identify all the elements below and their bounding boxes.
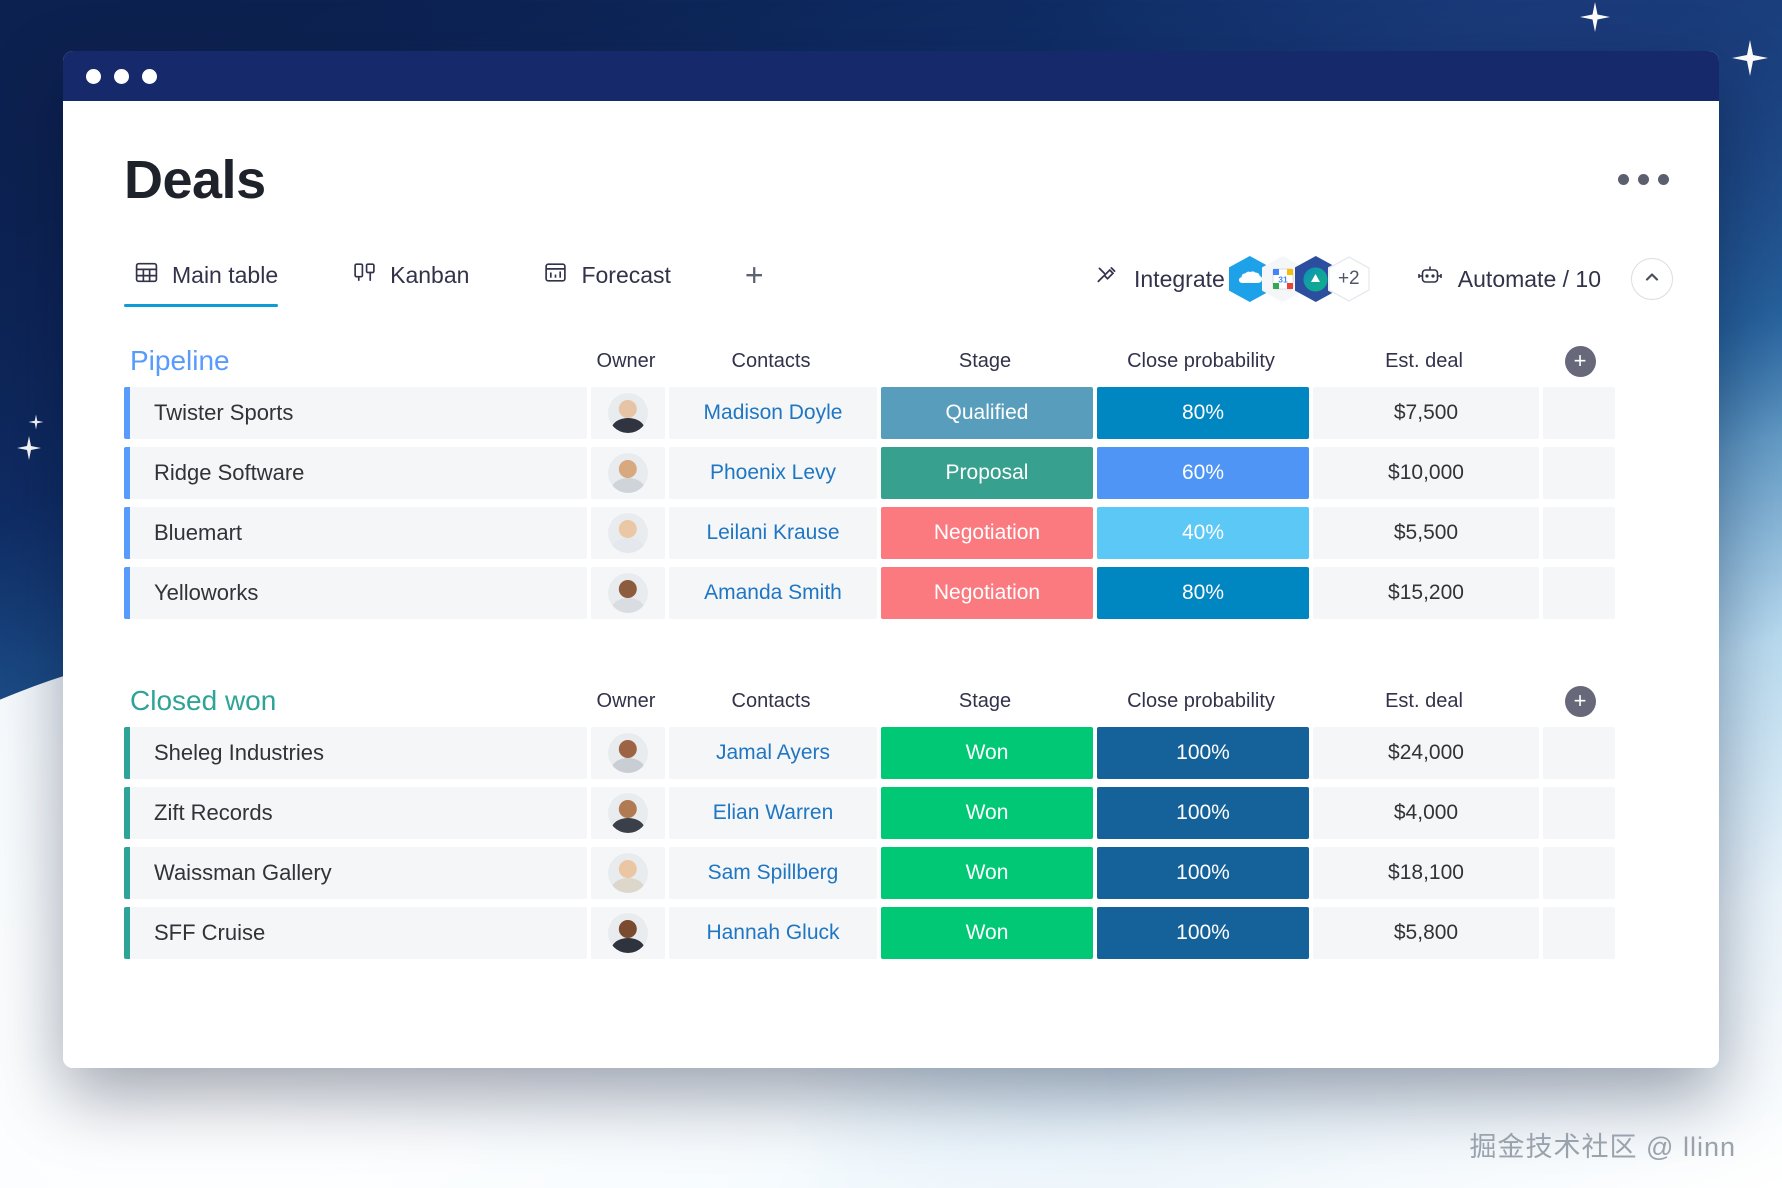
contact-cell[interactable]: Leilani Krause xyxy=(669,507,877,559)
deal-name-cell[interactable]: Sheleg Industries xyxy=(124,727,587,779)
est-deal-cell[interactable]: $4,000 xyxy=(1313,787,1539,839)
owner-cell[interactable] xyxy=(591,727,665,779)
empty-cell[interactable] xyxy=(1543,727,1615,779)
avatar[interactable] xyxy=(608,913,648,953)
board-group: PipelineOwnerContactsStageClose probabil… xyxy=(63,337,1719,621)
tab-forecast[interactable]: Forecast xyxy=(533,256,696,307)
avatar[interactable] xyxy=(608,453,648,493)
kebab-dot xyxy=(1618,174,1629,185)
collapse-toolbar-button[interactable] xyxy=(1631,258,1673,300)
deal-name-cell[interactable]: Ridge Software xyxy=(124,447,587,499)
add-view-button[interactable]: + xyxy=(735,262,774,302)
automate-label: Automate / 10 xyxy=(1458,266,1601,293)
table-row[interactable]: SFF CruiseHannah GluckWon100%$5,800 xyxy=(63,905,1719,961)
table-row[interactable]: Sheleg IndustriesJamal AyersWon100%$24,0… xyxy=(63,725,1719,781)
column-header-est-deal[interactable]: Est. deal xyxy=(1309,690,1539,713)
stage-cell[interactable]: Won xyxy=(881,787,1093,839)
close-probability-cell[interactable]: 80% xyxy=(1097,567,1309,619)
table-row[interactable]: Zift RecordsElian WarrenWon100%$4,000 xyxy=(63,785,1719,841)
forecast-chart-icon xyxy=(543,260,568,291)
column-header-stage[interactable]: Stage xyxy=(877,350,1093,373)
contact-cell[interactable]: Hannah Gluck xyxy=(669,907,877,959)
page-background: Deals xyxy=(0,0,1782,1188)
mailchimp-icon xyxy=(1301,264,1331,294)
plug-icon xyxy=(1094,263,1120,295)
table-row[interactable]: YelloworksAmanda SmithNegotiation80%$15,… xyxy=(63,565,1719,621)
deal-name-cell[interactable]: Bluemart xyxy=(124,507,587,559)
tab-label: Main table xyxy=(172,262,278,289)
est-deal-cell[interactable]: $7,500 xyxy=(1313,387,1539,439)
group-title[interactable]: Closed won xyxy=(124,685,587,717)
empty-cell[interactable] xyxy=(1543,787,1615,839)
integration-overflow-count[interactable]: +2 xyxy=(1328,256,1370,302)
empty-cell[interactable] xyxy=(1543,447,1615,499)
table-row[interactable]: Twister SportsMadison DoyleQualified80%$… xyxy=(63,385,1719,441)
stage-cell[interactable]: Negotiation xyxy=(881,507,1093,559)
integration-avatars[interactable]: 31 xyxy=(1229,256,1370,302)
column-header-contacts[interactable]: Contacts xyxy=(665,690,877,713)
column-header-owner[interactable]: Owner xyxy=(587,690,665,713)
empty-cell[interactable] xyxy=(1543,907,1615,959)
stage-cell[interactable]: Won xyxy=(881,907,1093,959)
est-deal-cell[interactable]: $24,000 xyxy=(1313,727,1539,779)
tab-kanban[interactable]: Kanban xyxy=(342,256,495,307)
est-deal-cell[interactable]: $10,000 xyxy=(1313,447,1539,499)
window-titlebar xyxy=(63,51,1719,101)
window-close-dot[interactable] xyxy=(86,69,101,84)
avatar[interactable] xyxy=(608,513,648,553)
owner-cell[interactable] xyxy=(591,387,665,439)
est-deal-cell[interactable]: $5,500 xyxy=(1313,507,1539,559)
board-groups: PipelineOwnerContactsStageClose probabil… xyxy=(63,337,1719,1017)
column-header-close-probability[interactable]: Close probability xyxy=(1093,690,1309,713)
table-row[interactable]: Waissman GallerySam SpillbergWon100%$18,… xyxy=(63,845,1719,901)
sparkle-icon xyxy=(28,414,44,430)
add-column-button[interactable]: + xyxy=(1565,346,1596,377)
contact-cell[interactable]: Sam Spillberg xyxy=(669,847,877,899)
app-body: Deals xyxy=(63,101,1719,1068)
column-header-stage[interactable]: Stage xyxy=(877,690,1093,713)
tab-main-table[interactable]: Main table xyxy=(124,256,304,307)
owner-cell[interactable] xyxy=(591,507,665,559)
owner-cell[interactable] xyxy=(591,787,665,839)
empty-cell[interactable] xyxy=(1543,507,1615,559)
window-maximize-dot[interactable] xyxy=(142,69,157,84)
owner-cell[interactable] xyxy=(591,847,665,899)
tab-label: Kanban xyxy=(390,262,469,289)
deal-name-cell[interactable]: Zift Records xyxy=(124,787,587,839)
deal-name-cell[interactable]: SFF Cruise xyxy=(124,907,587,959)
contact-cell[interactable]: Elian Warren xyxy=(669,787,877,839)
stage-cell[interactable]: Qualified xyxy=(881,387,1093,439)
salesforce-icon xyxy=(1235,264,1265,294)
tab-label: Forecast xyxy=(581,262,670,289)
est-deal-cell[interactable]: $15,200 xyxy=(1313,567,1539,619)
close-probability-cell[interactable]: 40% xyxy=(1097,507,1309,559)
close-probability-cell[interactable]: 100% xyxy=(1097,727,1309,779)
app-window: Deals xyxy=(63,51,1719,1068)
owner-cell[interactable] xyxy=(591,907,665,959)
deal-name-cell[interactable]: Waissman Gallery xyxy=(124,847,587,899)
column-header-close-probability[interactable]: Close probability xyxy=(1093,350,1309,373)
table-row[interactable]: BluemartLeilani KrauseNegotiation40%$5,5… xyxy=(63,505,1719,561)
page-title: Deals xyxy=(124,149,266,211)
stage-cell[interactable]: Negotiation xyxy=(881,567,1093,619)
close-probability-cell[interactable]: 60% xyxy=(1097,447,1309,499)
board-group: Closed wonOwnerContactsStageClose probab… xyxy=(63,677,1719,961)
kebab-dot xyxy=(1658,174,1669,185)
table-row[interactable]: Ridge SoftwarePhoenix LevyProposal60%$10… xyxy=(63,445,1719,501)
empty-cell[interactable] xyxy=(1543,387,1615,439)
integrate-label: Integrate xyxy=(1134,266,1225,293)
integration-overflow-label: +2 xyxy=(1338,268,1360,290)
kanban-icon xyxy=(352,260,377,291)
group-header-row: PipelineOwnerContactsStageClose probabil… xyxy=(63,337,1719,385)
column-header-est-deal[interactable]: Est. deal xyxy=(1309,350,1539,373)
view-tabs: Main table Kanban xyxy=(124,256,774,307)
view-tabbar: Main table Kanban xyxy=(124,256,1673,318)
google-calendar-icon: 31 xyxy=(1268,264,1298,294)
robot-icon xyxy=(1416,264,1444,294)
owner-cell[interactable] xyxy=(591,567,665,619)
more-options-button[interactable] xyxy=(1618,174,1669,185)
avatar[interactable] xyxy=(608,393,648,433)
contact-cell[interactable]: Madison Doyle xyxy=(669,387,877,439)
empty-cell[interactable] xyxy=(1543,847,1615,899)
svg-text:31: 31 xyxy=(1278,275,1288,285)
stage-cell[interactable]: Proposal xyxy=(881,447,1093,499)
avatar[interactable] xyxy=(608,793,648,833)
watermark: 掘金技术社区 @ llinn xyxy=(1470,1125,1736,1164)
integrate-button[interactable]: Integrate xyxy=(1094,263,1225,295)
sparkle-icon xyxy=(1578,0,1612,34)
close-probability-cell[interactable]: 100% xyxy=(1097,847,1309,899)
close-probability-cell[interactable]: 80% xyxy=(1097,387,1309,439)
chevron-up-icon xyxy=(1642,267,1662,292)
close-probability-cell[interactable]: 100% xyxy=(1097,907,1309,959)
toolbar-right: Integrate xyxy=(1094,256,1673,314)
group-header-row: Closed wonOwnerContactsStageClose probab… xyxy=(63,677,1719,725)
contact-cell[interactable]: Jamal Ayers xyxy=(669,727,877,779)
kebab-dot xyxy=(1638,174,1649,185)
close-probability-cell[interactable]: 100% xyxy=(1097,787,1309,839)
column-header-owner[interactable]: Owner xyxy=(587,350,665,373)
window-minimize-dot[interactable] xyxy=(114,69,129,84)
deal-name-cell[interactable]: Twister Sports xyxy=(124,387,587,439)
table-icon xyxy=(134,260,159,291)
add-column-button[interactable]: + xyxy=(1565,686,1596,717)
column-header-contacts[interactable]: Contacts xyxy=(665,350,877,373)
contact-cell[interactable]: Amanda Smith xyxy=(669,567,877,619)
owner-cell[interactable] xyxy=(591,447,665,499)
est-deal-cell[interactable]: $5,800 xyxy=(1313,907,1539,959)
sparkle-icon xyxy=(16,435,42,461)
stage-cell[interactable]: Won xyxy=(881,727,1093,779)
avatar[interactable] xyxy=(608,853,648,893)
group-title[interactable]: Pipeline xyxy=(124,345,587,377)
deal-name-cell[interactable]: Yelloworks xyxy=(124,567,587,619)
contact-cell[interactable]: Phoenix Levy xyxy=(669,447,877,499)
stage-cell[interactable]: Won xyxy=(881,847,1093,899)
automate-button[interactable]: Automate / 10 xyxy=(1416,264,1601,294)
avatar[interactable] xyxy=(608,733,648,773)
sparkle-icon xyxy=(1730,38,1770,78)
avatar[interactable] xyxy=(608,573,648,613)
empty-cell[interactable] xyxy=(1543,567,1615,619)
est-deal-cell[interactable]: $18,100 xyxy=(1313,847,1539,899)
